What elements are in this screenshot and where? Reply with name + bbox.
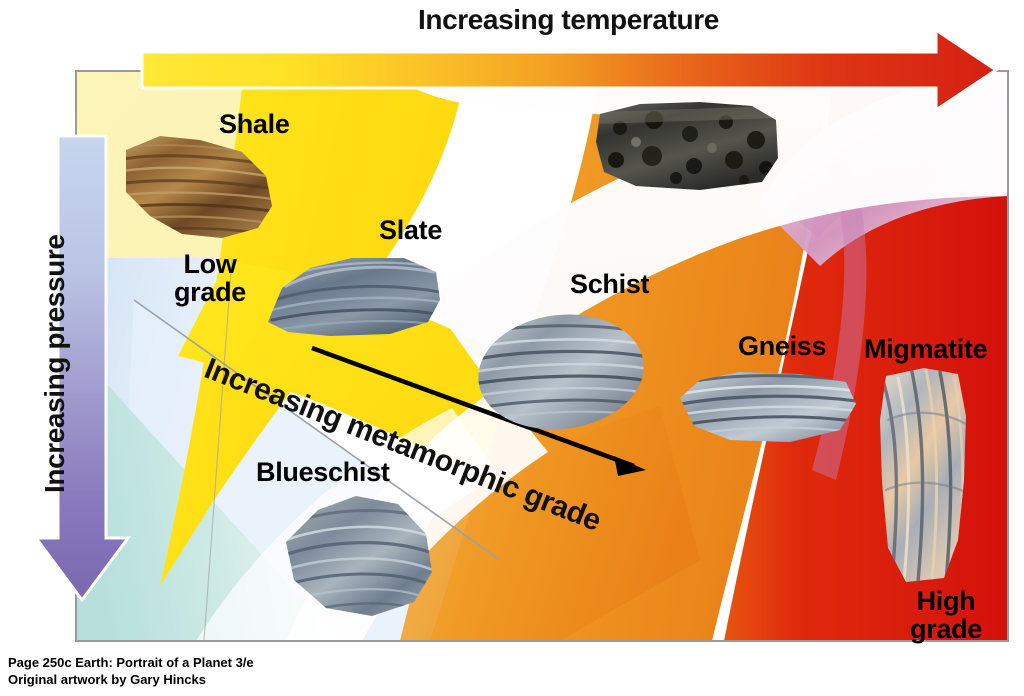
source-caption: Page 250c Earth: Portrait of a Planet 3/… [8,654,254,688]
rock-label-gneiss: Gneiss [738,332,826,360]
rock-label-blueschist: Blueschist [256,458,390,486]
rock-label-shale: Shale [219,110,290,138]
rock-label-schist: Schist [570,270,649,298]
rock-specimen-hornfels [596,102,780,190]
rock-specimen-migmatite [880,368,966,582]
rock-label-migmatite: Migmatite [864,335,987,363]
metamorphic-grade-diagram: Increasing temperature Increasing pressu… [0,0,1024,696]
low-grade-label: Low grade [158,250,262,306]
high-grade-label: High grade [894,587,998,643]
pressure-axis-label: Increasing pressure [39,243,71,493]
temperature-axis-label: Increasing temperature [418,4,719,36]
rock-label-slate: Slate [379,216,442,244]
